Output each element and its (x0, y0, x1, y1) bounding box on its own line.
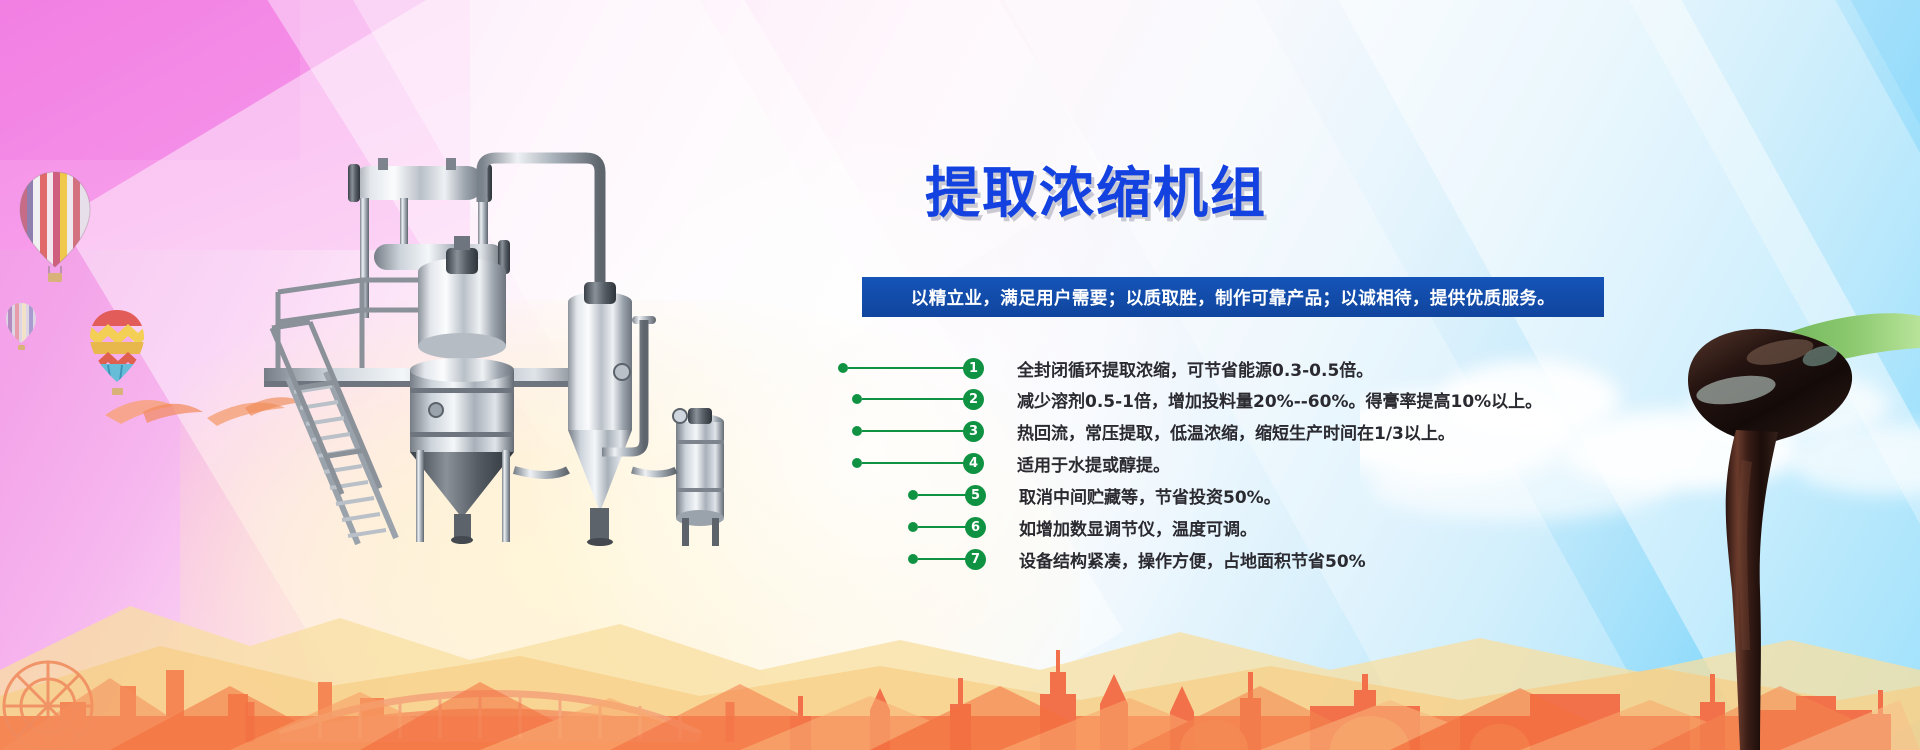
feature-list: 1全封闭循环提取浓缩，可节省能源0.3-0.5倍。2减少溶剂0.5-1倍，增加投… (0, 0, 1920, 750)
feature-connector-line (918, 526, 966, 528)
feature-number-badge: 1 (963, 358, 984, 379)
feature-number-badge: 5 (965, 485, 986, 506)
feature-text: 全封闭循环提取浓缩，可节省能源0.3-0.5倍。 (1017, 356, 1373, 381)
feature-item-6: 6如增加数显调节仪，温度可调。 (908, 514, 1257, 540)
feature-bullet-dot-icon (852, 426, 862, 436)
feature-number-badge: 4 (963, 453, 984, 474)
feature-text: 取消中间贮藏等，节省投资50%。 (1019, 483, 1281, 508)
feature-item-2: 2减少溶剂0.5-1倍，增加投料量20%--60%。得膏率提高10%以上。 (852, 386, 1542, 412)
feature-number-badge: 6 (965, 517, 986, 538)
feature-bullet-dot-icon (908, 522, 918, 532)
feature-text: 热回流，常压提取，低温浓缩，缩短生产时间在1/3以上。 (1017, 419, 1455, 444)
feature-number-badge: 7 (965, 549, 986, 570)
feature-bullet-dot-icon (838, 363, 848, 373)
feature-text: 适用于水提或醇提。 (1017, 451, 1170, 476)
feature-number-badge: 2 (963, 389, 984, 410)
feature-bullet-dot-icon (852, 394, 862, 404)
feature-number-badge: 3 (963, 421, 984, 442)
feature-connector-line (862, 462, 964, 464)
feature-item-7: 7设备结构紧凑，操作方便，占地面积节省50% (908, 546, 1366, 572)
feature-item-1: 1全封闭循环提取浓缩，可节省能源0.3-0.5倍。 (838, 355, 1373, 381)
feature-item-3: 3热回流，常压提取，低温浓缩，缩短生产时间在1/3以上。 (852, 418, 1455, 444)
feature-bullet-dot-icon (852, 458, 862, 468)
feature-connector-line (918, 494, 966, 496)
feature-connector-line (862, 398, 964, 400)
feature-text: 减少溶剂0.5-1倍，增加投料量20%--60%。得膏率提高10%以上。 (1017, 387, 1542, 412)
feature-bullet-dot-icon (908, 490, 918, 500)
feature-connector-line (862, 430, 964, 432)
feature-item-5: 5取消中间贮藏等，节省投资50%。 (908, 482, 1281, 508)
product-banner: 提取浓缩机组 以精立业，满足用户需要；以质取胜，制作可靠产品；以诚相待，提供优质… (0, 0, 1920, 750)
feature-item-4: 4适用于水提或醇提。 (852, 450, 1170, 476)
feature-connector-line (918, 558, 966, 560)
feature-connector-line (848, 367, 964, 369)
feature-bullet-dot-icon (908, 554, 918, 564)
feature-text: 如增加数显调节仪，温度可调。 (1019, 515, 1257, 540)
feature-text: 设备结构紧凑，操作方便，占地面积节省50% (1019, 547, 1366, 572)
